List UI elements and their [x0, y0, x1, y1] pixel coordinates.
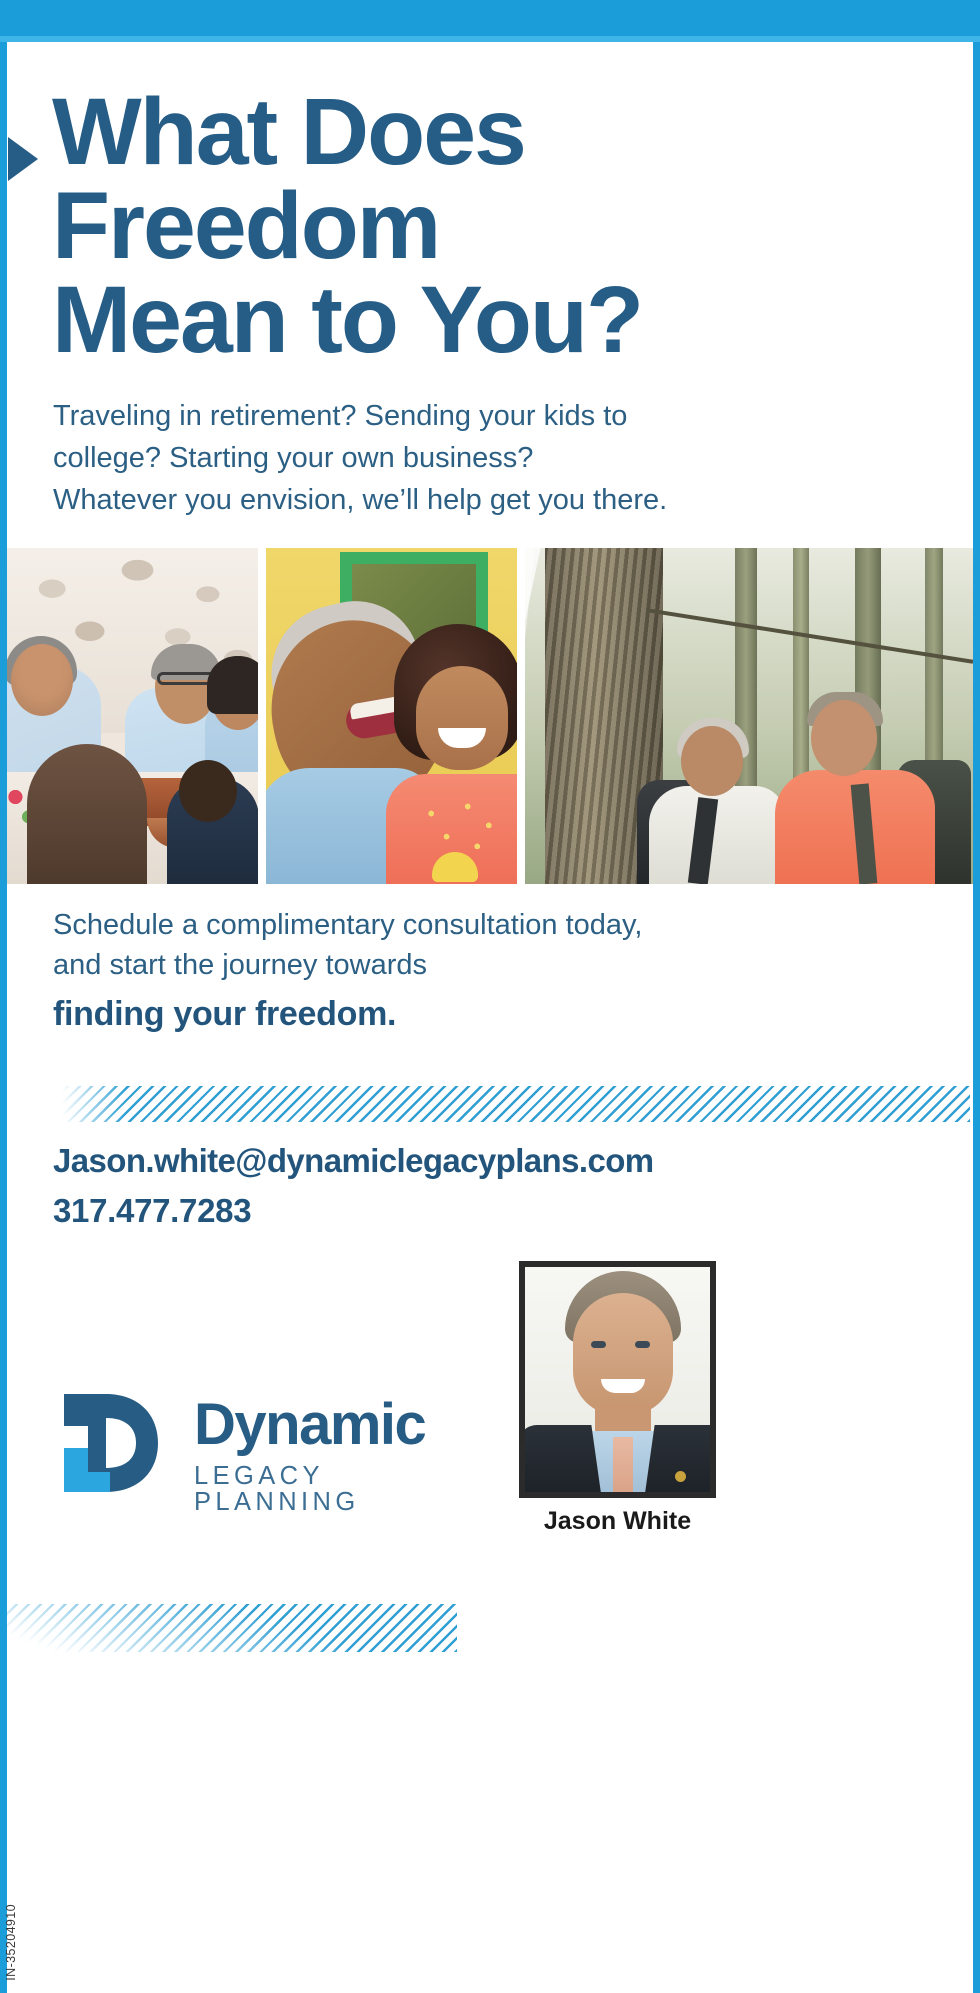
photo-strip [7, 548, 973, 884]
call-to-action-block: Schedule a complimentary consultation to… [53, 905, 813, 1034]
company-logo: Dynamic LEGACY PLANNING [58, 1390, 478, 1500]
logo-company-name: Dynamic [194, 1396, 478, 1454]
intro-line-3: Whatever you envision, we’ll help get yo… [53, 479, 753, 521]
contact-block: Jason.white@dynamiclegacyplans.com 317.4… [53, 1142, 813, 1230]
top-blue-bar [0, 0, 980, 36]
advertisement-page: What Does Freedom Mean to You? Traveling… [0, 0, 980, 1993]
advisor-suit-lapel-left [519, 1425, 603, 1498]
advisor-headshot [519, 1261, 716, 1498]
advisor-lapel-pin [675, 1471, 686, 1482]
headline-line-3: Mean to You? [52, 273, 872, 367]
page-title: What Does Freedom Mean to You? [52, 85, 872, 367]
figure-girl-foreground [27, 744, 147, 884]
intro-line-2: college? Starting your own business? [53, 437, 753, 479]
diagonal-hatch-divider-top [62, 1086, 970, 1122]
advisor-name-caption: Jason White [519, 1507, 716, 1536]
contact-phone[interactable]: 317.477.7283 [53, 1192, 813, 1230]
advisor-face [573, 1293, 673, 1415]
hiker-woman-head [681, 726, 743, 796]
headline-line-2: Freedom [52, 179, 872, 273]
advisor-eye-left [591, 1341, 606, 1348]
advisor-eye-right [635, 1341, 650, 1348]
triangle-bullet-icon [8, 137, 38, 181]
figure-woman-left-head [11, 644, 73, 716]
advisor-necktie [613, 1437, 633, 1498]
letter-d-monogram-icon [58, 1390, 164, 1496]
figure-boy-head [179, 760, 237, 822]
headline-line-1: What Does [52, 85, 872, 179]
cta-line-2: and start the journey towards [53, 945, 813, 985]
intro-line-1: Traveling in retirement? Sending your ki… [53, 395, 753, 437]
hiker-man-head [811, 700, 877, 776]
photo-hiking-couple [525, 548, 973, 884]
logo-tagline: LEGACY PLANNING [194, 1464, 478, 1515]
child-face [416, 666, 508, 770]
diagonal-hatch-accent-bottom [7, 1604, 457, 1652]
intro-paragraph: Traveling in retirement? Sending your ki… [53, 395, 753, 521]
figure-woman-right-hair [207, 656, 258, 714]
top-blue-bar-accent [0, 36, 980, 42]
left-border-rule [0, 42, 7, 1993]
photo-grandmother-and-child [266, 548, 517, 884]
right-border-rule [973, 42, 980, 1993]
cta-emphasis: finding your freedom. [53, 995, 813, 1034]
advisor-suit-lapel-right [643, 1425, 716, 1498]
photo-family-dinner [7, 548, 258, 884]
cta-line-1: Schedule a complimentary consultation to… [53, 905, 813, 945]
logo-wordmark: Dynamic LEGACY PLANNING [194, 1396, 478, 1515]
contact-email[interactable]: Jason.white@dynamiclegacyplans.com [53, 1142, 813, 1180]
ad-reference-code: IN-35204910 [4, 1904, 18, 1981]
